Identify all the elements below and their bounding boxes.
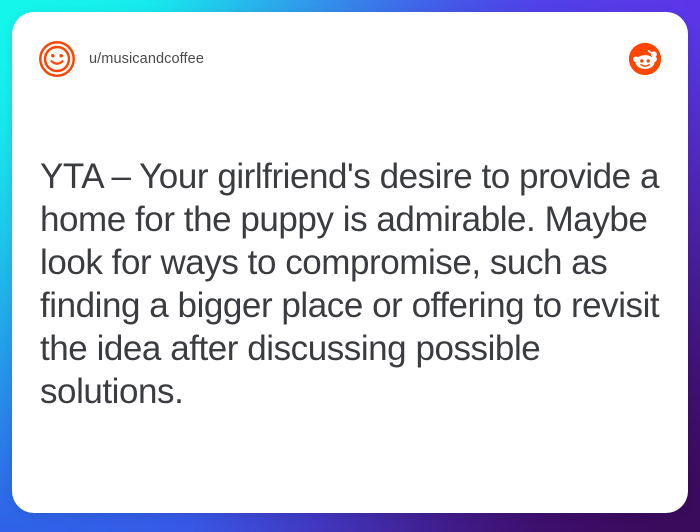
post-header: u/musicandcoffee bbox=[12, 12, 688, 106]
post-text: YTA – Your girlfriend's desire to provid… bbox=[40, 155, 664, 413]
username-label: u/musicandcoffee bbox=[89, 51, 204, 67]
smiley-face-avatar-icon bbox=[38, 40, 76, 78]
reddit-logo[interactable] bbox=[628, 42, 662, 76]
reddit-snoo-icon bbox=[628, 42, 662, 76]
screenshot-root: u/musicandcoffee bbox=[0, 0, 700, 532]
avatar[interactable] bbox=[38, 40, 76, 78]
reddit-post-card: u/musicandcoffee bbox=[12, 12, 688, 513]
